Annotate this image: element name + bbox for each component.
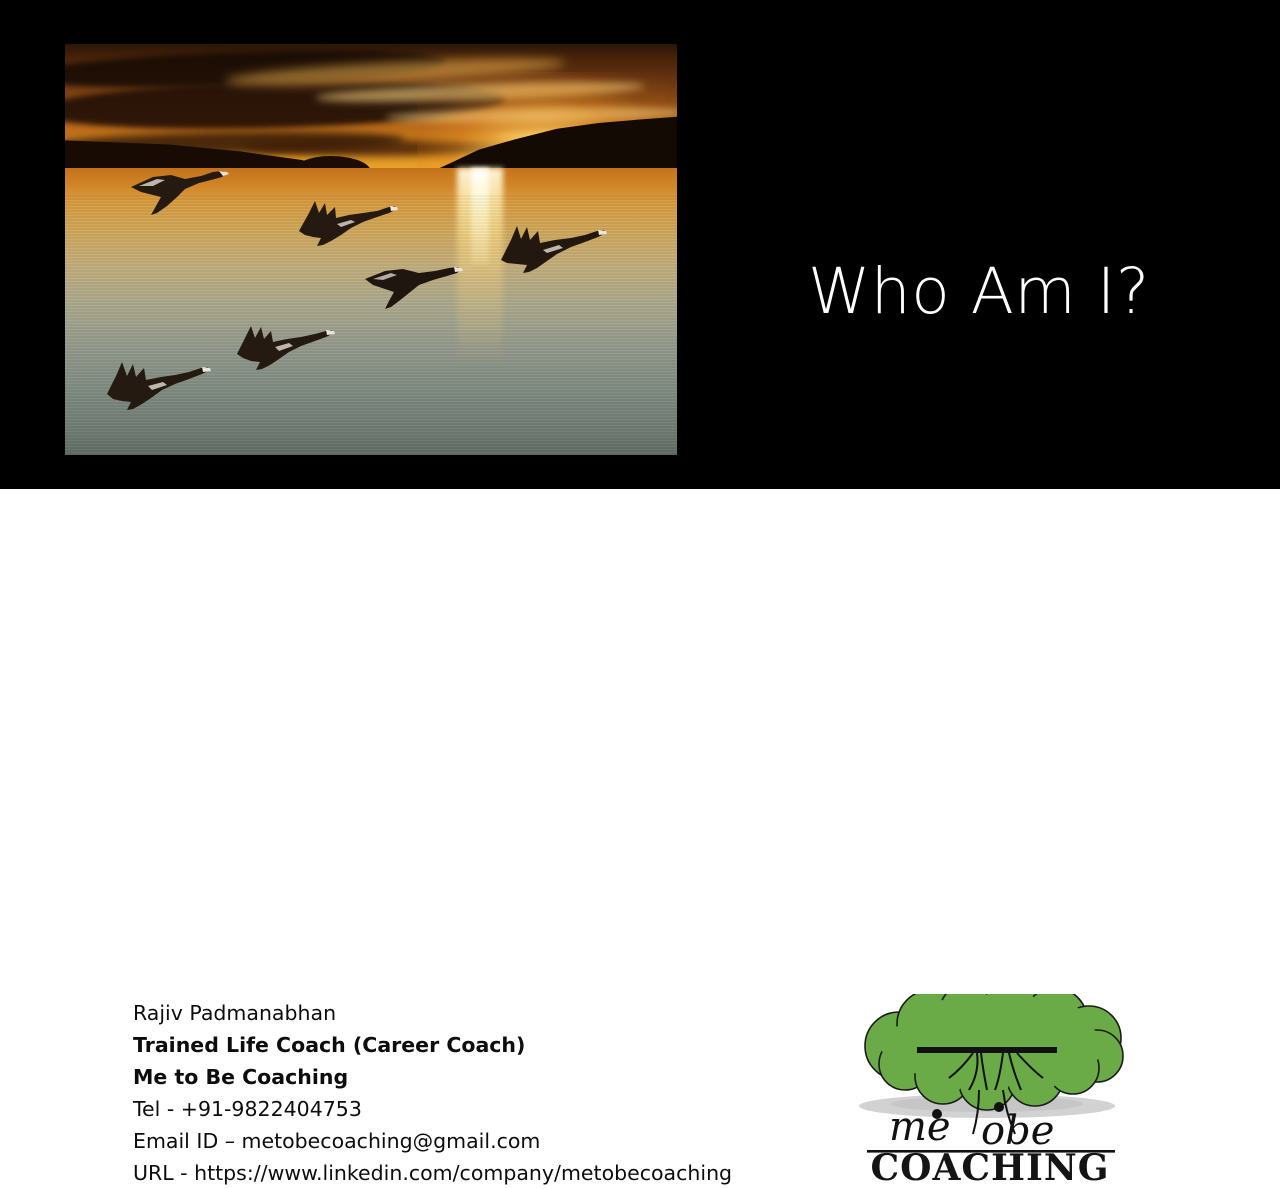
contact-line-name: Rajiv Padmanabhan xyxy=(133,997,833,1029)
contact-line-url[interactable]: URL - https://www.linkedin.com/company/m… xyxy=(133,1157,833,1189)
logo-dot-left xyxy=(932,1109,942,1119)
goose-silhouette xyxy=(103,352,215,416)
logo-dot-right xyxy=(994,1102,1004,1112)
contact-block: Rajiv Padmanabhan Trained Life Coach (Ca… xyxy=(133,997,833,1189)
contact-line-role: Trained Life Coach (Career Coach) xyxy=(133,1029,833,1061)
goose-silhouette xyxy=(123,159,233,219)
hero-band: Who Am I? xyxy=(0,0,1280,489)
logo-script-left: me xyxy=(889,1104,951,1150)
me-to-be-coaching-logo: me obe COACHING xyxy=(845,994,1135,1184)
logo-bar xyxy=(917,1047,1057,1053)
goose-silhouette xyxy=(361,259,467,313)
sunset-geese-photo xyxy=(65,44,677,455)
footer-band: Rajiv Padmanabhan Trained Life Coach (Ca… xyxy=(0,489,1280,720)
contact-line-tel: Tel - +91-9822404753 xyxy=(133,1093,833,1125)
slide: Who Am I? Rajiv Padmanabhan Trained Life… xyxy=(0,0,1280,720)
goose-silhouette xyxy=(233,316,337,376)
contact-line-email: Email ID – metobecoaching@gmail.com xyxy=(133,1125,833,1157)
slide-title: Who Am I? xyxy=(808,256,1228,328)
contact-line-company: Me to Be Coaching xyxy=(133,1061,833,1093)
goose-silhouette xyxy=(497,214,611,280)
logo-wordmark: COACHING xyxy=(870,1147,1109,1184)
photo-canvas xyxy=(65,44,677,455)
goose-silhouette xyxy=(293,191,401,253)
